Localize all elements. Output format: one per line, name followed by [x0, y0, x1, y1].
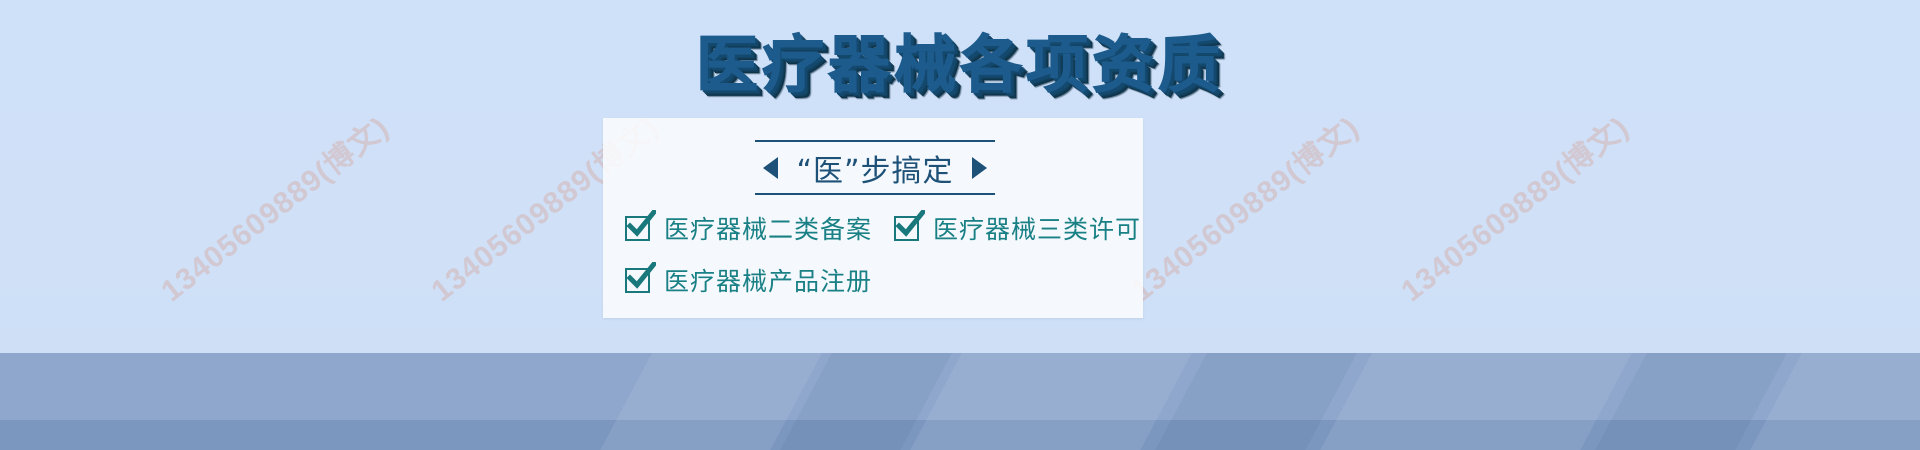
rule-bottom	[755, 193, 995, 195]
checklist-row: 医疗器械二类备案 医疗器械三类许可	[625, 210, 1145, 246]
title-container: 医疗器械各项资质	[0, 34, 1920, 96]
list-item[interactable]: 医疗器械二类备案	[625, 210, 872, 246]
subtitle-row: “医”步搞定	[745, 142, 1005, 193]
page-title: 医疗器械各项资质	[696, 34, 1224, 96]
list-item-label: 医疗器械三类许可	[933, 210, 1141, 246]
list-item-label: 医疗器械产品注册	[664, 262, 872, 298]
triangle-left-icon	[763, 157, 778, 179]
check-icon	[625, 216, 650, 241]
subtitle-block: “医”步搞定	[745, 140, 1005, 195]
watermark-text: 13405609889(博文)	[1120, 104, 1367, 310]
info-card: “医”步搞定 医疗器械二类备案	[603, 118, 1143, 318]
list-item-label: 医疗器械二类备案	[664, 210, 872, 246]
checklist: 医疗器械二类备案 医疗器械三类许可	[625, 210, 1145, 314]
promo-banner: 13405609889(博文) 13405609889(博文) 13405609…	[0, 0, 1920, 450]
checklist-row: 医疗器械产品注册	[625, 262, 1145, 298]
check-icon	[894, 216, 919, 241]
watermark-text: 13405609889(博文)	[1390, 104, 1637, 310]
subtitle-text: “医”步搞定	[796, 146, 953, 190]
diagonal-streaks	[0, 353, 1920, 450]
triangle-right-icon	[972, 157, 987, 179]
watermark-text: 13405609889(博文)	[150, 104, 397, 310]
list-item[interactable]: 医疗器械产品注册	[625, 262, 872, 298]
list-item[interactable]: 医疗器械三类许可	[894, 210, 1141, 246]
check-icon	[625, 268, 650, 293]
